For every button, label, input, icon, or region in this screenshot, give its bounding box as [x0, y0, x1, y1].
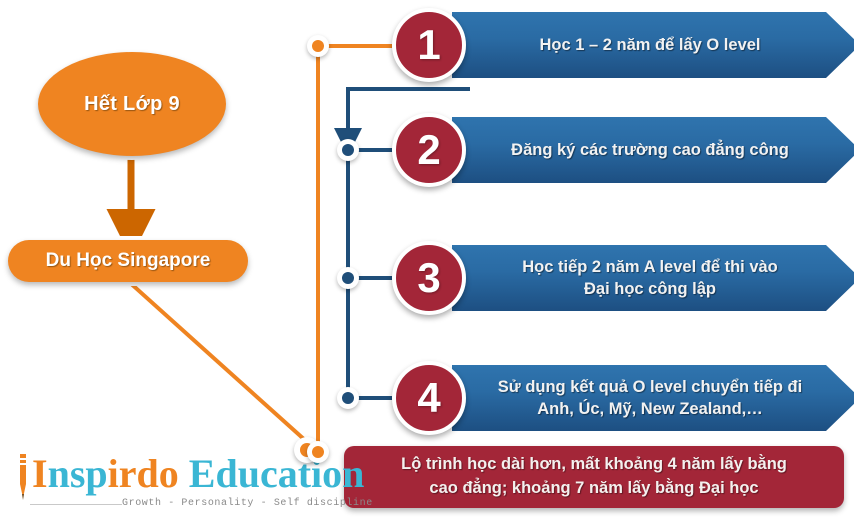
summary-line-1: Lộ trình học dài hơn, mất khoảng 4 năm l…: [401, 453, 787, 477]
infographic-canvas: Hết Lớp 9 Du Học Singapore Học 1 – 2 năm…: [0, 0, 854, 517]
step-row-1: Học 1 – 2 năm để lấy O level 1: [392, 12, 854, 78]
logo-part-5: Education: [179, 451, 365, 496]
step-banner-1-text: Học 1 – 2 năm để lấy O level: [517, 34, 794, 56]
step-banner-4[interactable]: Sử dụng kết quả O level chuyển tiếp đi A…: [452, 365, 854, 431]
step-row-2: Đăng ký các trường cao đẳng công 2: [392, 117, 854, 183]
step-badge-3[interactable]: 3: [392, 241, 466, 315]
logo-tagline: Growth - Personality - Self discipline: [122, 498, 373, 509]
step-1-line-1: Học 1 – 2 năm để lấy O level: [539, 34, 760, 56]
step-badge-1-number: 1: [417, 24, 440, 66]
step-badge-1[interactable]: 1: [392, 8, 466, 82]
brand-logo: Inspirdo Education Growth - Personality …: [4, 452, 336, 514]
logo-tagline-rule: [30, 504, 122, 505]
destination-node-label: Du Học Singapore: [46, 250, 211, 272]
step-banner-2-text: Đăng ký các trường cao đẳng công: [489, 139, 823, 161]
step-badge-2[interactable]: 2: [392, 113, 466, 187]
destination-node-du-hoc-singapore[interactable]: Du Học Singapore: [8, 240, 248, 282]
step-badge-2-number: 2: [417, 129, 440, 171]
step-3-line-2: Đại học công lập: [522, 278, 778, 300]
step-row-3: Học tiếp 2 năm A level để thi vào Đại họ…: [392, 245, 854, 311]
step-badge-3-number: 3: [417, 257, 440, 299]
junction-dot-step4: [337, 387, 359, 409]
pen-nib-icon: [16, 454, 30, 502]
junction-dot-step2: [337, 139, 359, 161]
summary-line-2: cao đẳng; khoảng 7 năm lấy bằng Đại học: [401, 477, 787, 501]
step-banner-3[interactable]: Học tiếp 2 năm A level để thi vào Đại họ…: [452, 245, 854, 311]
connector-pill-to-bottom-dot: [128, 281, 316, 450]
junction-dot-orange-top: [307, 35, 329, 57]
step-2-line-1: Đăng ký các trường cao đẳng công: [511, 139, 789, 161]
step-row-4: Sử dụng kết quả O level chuyển tiếp đi A…: [392, 365, 854, 431]
step-4-line-1: Sử dụng kết quả O level chuyển tiếp đi: [498, 376, 802, 398]
step-3-line-1: Học tiếp 2 năm A level để thi vào: [522, 256, 778, 278]
logo-part-2: nsp: [48, 451, 108, 496]
junction-dot-orange-bottom: [307, 441, 329, 463]
step-4-line-2: Anh, Úc, Mỹ, New Zealand,…: [498, 398, 802, 420]
start-node-het-lop-9[interactable]: Hết Lớp 9: [38, 52, 226, 156]
step-badge-4-number: 4: [417, 377, 440, 419]
summary-box[interactable]: Lộ trình học dài hơn, mất khoảng 4 năm l…: [344, 446, 844, 508]
junction-dot-step3: [337, 267, 359, 289]
summary-box-text: Lộ trình học dài hơn, mất khoảng 4 năm l…: [391, 453, 797, 501]
logo-part-1: I: [32, 451, 48, 496]
logo-part-4: o: [159, 451, 179, 496]
step-banner-2[interactable]: Đăng ký các trường cao đẳng công: [452, 117, 854, 183]
step-banner-1[interactable]: Học 1 – 2 năm để lấy O level: [452, 12, 854, 78]
step-banner-4-text: Sử dụng kết quả O level chuyển tiếp đi A…: [476, 376, 836, 421]
logo-part-3: ird: [108, 451, 159, 496]
step-banner-3-text: Học tiếp 2 năm A level để thi vào Đại họ…: [500, 256, 812, 301]
start-node-label: Hết Lớp 9: [84, 93, 180, 116]
step-badge-4[interactable]: 4: [392, 361, 466, 435]
